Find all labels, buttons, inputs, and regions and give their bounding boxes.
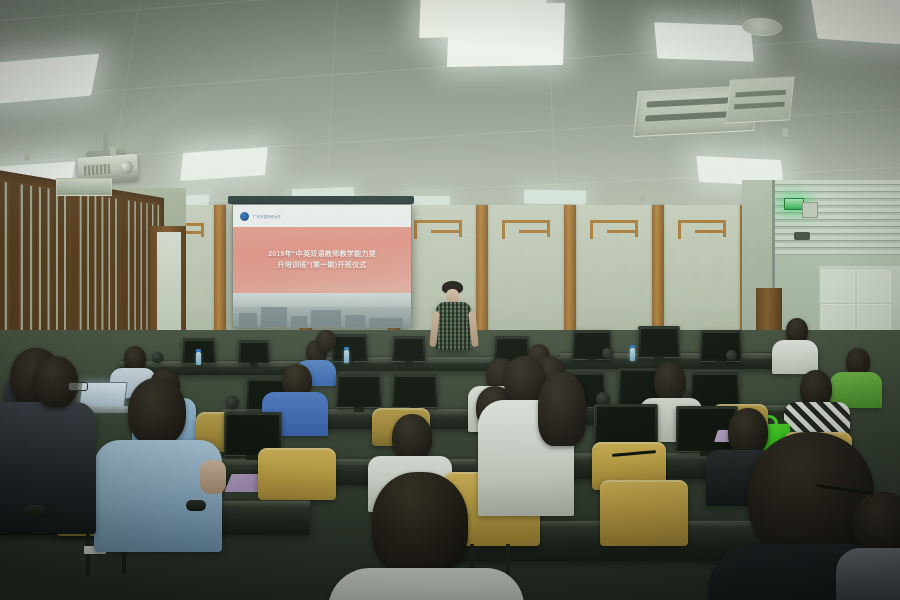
sprinkler-icon	[24, 152, 30, 161]
projection-screen: 广东外语外贸大学 2019年“中英双语教师教学能力提 升培训班”(第一期)开班仪…	[232, 204, 412, 328]
ceiling-light-panel	[447, 3, 565, 67]
headphones-icon	[226, 396, 239, 409]
ac-vent-slat	[734, 102, 784, 110]
slide-logo-text: 广东外语外贸大学	[253, 214, 281, 219]
slide-title-line-2: 升培训班”(第一期)开班仪式	[268, 260, 376, 271]
sprinkler-icon	[110, 147, 116, 156]
attendee-head	[316, 330, 336, 352]
monitor	[638, 326, 680, 358]
slide-title: 2019年“中英双语教师教学能力提 升培训班”(第一期)开班仪式	[260, 249, 384, 271]
ceiling-light-panel	[809, 0, 900, 45]
water-bottle	[630, 348, 635, 361]
presenter	[432, 283, 476, 363]
sprinkler-icon	[782, 128, 788, 137]
wall-ac-unit	[56, 178, 112, 196]
headphones-icon	[152, 352, 163, 363]
presenter-face	[446, 289, 459, 303]
classroom-photo: 广东外语外贸大学 2019年“中英双语教师教学能力提 升培训班”(第一期)开班仪…	[0, 0, 900, 600]
presentation-slide: 广东外语外贸大学 2019年“中英双语教师教学能力提 升培训班”(第一期)开班仪…	[233, 205, 411, 327]
sprinkler-icon	[640, 196, 645, 202]
projector-vent	[84, 164, 111, 176]
monitor	[336, 374, 382, 408]
attendee-head	[852, 492, 900, 554]
exit-sign-icon	[784, 198, 804, 210]
ceiling-light-panel	[524, 189, 586, 204]
attendee-head	[128, 378, 186, 446]
wall-speaker-icon	[802, 202, 818, 218]
attendee-body	[94, 440, 222, 552]
slide-body: 2019年“中英双语教师教学能力提 升培训班”(第一期)开班仪式	[233, 227, 411, 293]
attendee-head	[392, 414, 432, 462]
ceiling-ac-vent	[725, 76, 794, 123]
slide-header: 广东外语外贸大学	[233, 205, 411, 227]
computer-mouse	[186, 500, 206, 511]
slide-title-line-1: 2019年“中英双语教师教学能力提	[268, 249, 376, 260]
attendee-head	[728, 408, 768, 456]
chair	[258, 448, 336, 500]
ceiling-light-panel	[654, 22, 754, 61]
attendee-body	[772, 340, 818, 374]
water-bottle	[344, 350, 349, 363]
attendee-head	[538, 372, 586, 446]
attendee-arm	[200, 460, 226, 494]
monitor	[332, 334, 368, 362]
screen-housing	[228, 196, 414, 204]
ac-vent-slat	[735, 90, 785, 98]
projector-lens-icon	[119, 160, 133, 174]
water-bottle	[196, 352, 201, 365]
glasses-icon	[68, 382, 88, 391]
monitor	[392, 336, 426, 362]
headphones-icon	[726, 350, 737, 361]
wall-camera-icon	[794, 232, 810, 240]
attendee-body	[836, 548, 900, 600]
attendee-body	[328, 568, 524, 600]
presenter-torso	[436, 302, 471, 350]
attendee-head	[654, 362, 686, 402]
attendee-head	[372, 472, 468, 576]
university-logo-icon	[240, 212, 249, 221]
headphones-icon	[602, 348, 613, 359]
attendee-body	[0, 402, 96, 534]
monitor	[238, 340, 270, 364]
slide-footer-photo	[233, 293, 411, 327]
monitor	[392, 374, 438, 408]
computer-mouse	[24, 505, 46, 517]
chair	[600, 480, 688, 546]
